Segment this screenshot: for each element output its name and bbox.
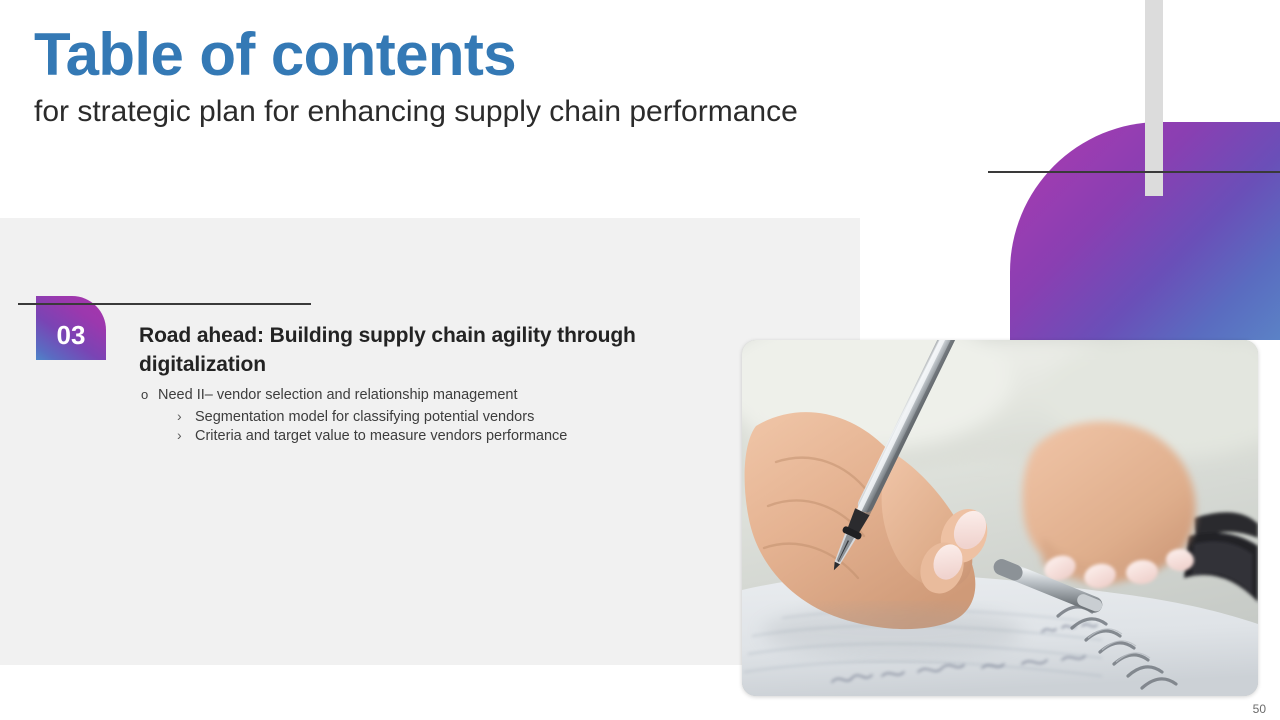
entry-divider-line (18, 303, 311, 305)
entry-heading: Road ahead: Building supply chain agilit… (139, 322, 699, 380)
list-item: o Need II– vendor selection and relation… (139, 386, 699, 447)
page-number: 50 (1253, 702, 1266, 716)
slide-canvas: Table of contents for strategic plan for… (0, 0, 1280, 720)
chevron-right-icon: › (177, 426, 182, 445)
entry-bullet-list: o Need II– vendor selection and relation… (139, 386, 699, 447)
circle-bullet-icon: o (141, 386, 148, 404)
page-title: Table of contents (34, 24, 1034, 86)
list-item: › Segmentation model for classifying pot… (158, 408, 699, 428)
hand-writing-photo (742, 340, 1258, 696)
chevron-right-icon: › (177, 407, 182, 426)
list-item-label: Criteria and target value to measure ven… (195, 428, 567, 444)
decorative-horizontal-line (988, 171, 1280, 173)
list-item-label: Need II– vendor selection and relationsh… (158, 387, 518, 403)
list-item-label: Segmentation model for classifying poten… (195, 409, 534, 425)
decorative-vertical-bar (1145, 0, 1163, 196)
entry-number-badge: 03 (36, 296, 106, 360)
list-item: › Criteria and target value to measure v… (158, 427, 699, 447)
photo-illustration (742, 340, 1258, 696)
entry-body: Road ahead: Building supply chain agilit… (139, 322, 699, 447)
slide-header: Table of contents for strategic plan for… (34, 24, 1034, 130)
entry-sub-bullet-list: › Segmentation model for classifying pot… (158, 408, 699, 447)
entry-number-label: 03 (57, 308, 86, 348)
page-subtitle: for strategic plan for enhancing supply … (34, 94, 1034, 130)
